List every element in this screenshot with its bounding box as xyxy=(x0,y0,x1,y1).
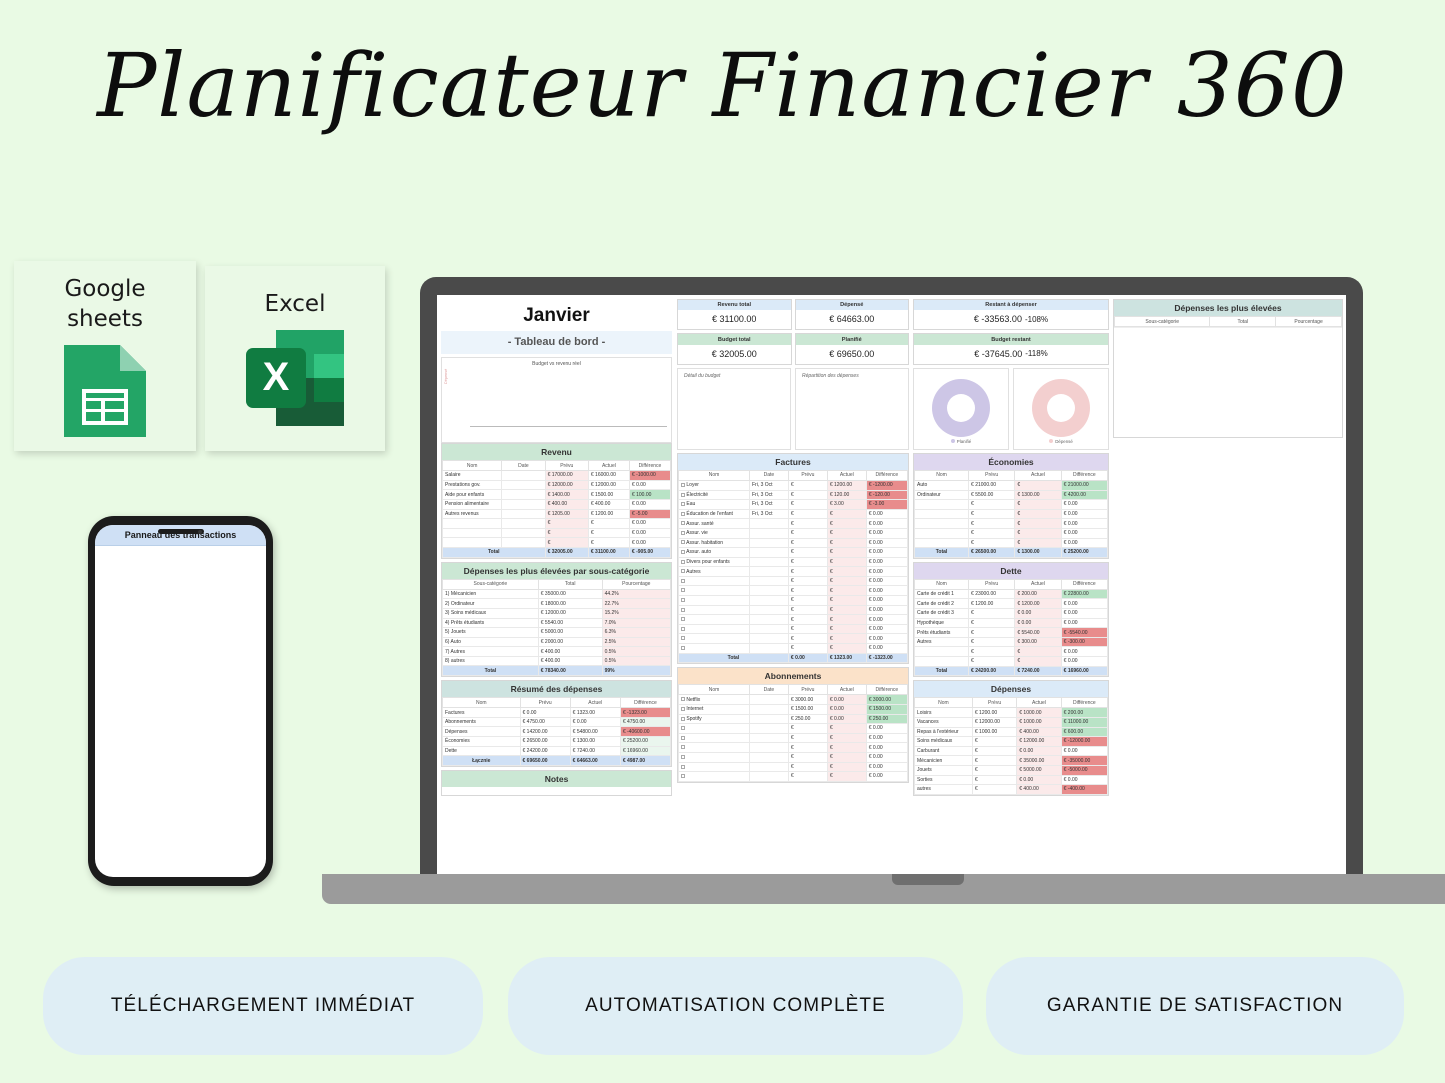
table-cell[interactable]: Factures xyxy=(443,708,521,718)
row-checkbox[interactable] xyxy=(681,627,685,631)
table-row[interactable]: LoyerFri, 3 Oct€€ 1200.00€ -1200.00 xyxy=(679,480,908,490)
table-cell[interactable]: € xyxy=(827,752,866,762)
table-cell[interactable] xyxy=(749,605,788,615)
table-cell[interactable]: € xyxy=(1015,480,1061,490)
table-cell[interactable]: € xyxy=(588,538,629,548)
table-cell[interactable] xyxy=(502,480,545,490)
table-cell[interactable]: € 1200.00 xyxy=(972,708,1016,718)
table-cell[interactable]: € 1200.00 xyxy=(588,509,629,519)
table-cell[interactable]: € xyxy=(588,519,629,529)
table-row[interactable]: 5) Jouets€ 5000.006.3% xyxy=(443,628,671,638)
table-row[interactable]: €€€ 0.00 xyxy=(443,528,671,538)
table-cell[interactable]: € 14200.00 xyxy=(520,727,570,737)
table-cell[interactable]: € xyxy=(827,548,866,558)
table-revenu[interactable]: NomDatePrévuActuelDifférenceSalaire€ 170… xyxy=(442,460,671,558)
table-cell[interactable]: € xyxy=(827,762,866,772)
row-checkbox[interactable] xyxy=(681,745,685,749)
table-row[interactable]: €€€ 0.00 xyxy=(679,724,908,734)
table-cell[interactable]: Assur. vie xyxy=(679,528,750,538)
table-row[interactable]: Internet€ 1500.00€ 0.00€ 1500.00 xyxy=(679,705,908,715)
table-abonnements[interactable]: NomDatePrévuActuelDifférence Netflix€ 30… xyxy=(678,684,908,782)
table-cell[interactable]: € -400.00 xyxy=(1061,785,1107,795)
table-cell[interactable]: € 0.00 xyxy=(1061,519,1107,529)
table-row[interactable]: Mécanicien€€ 35000.00€ -35000.00 xyxy=(915,756,1108,766)
table-cell[interactable]: Électricité xyxy=(679,490,750,500)
table-cell[interactable]: € 23000.00 xyxy=(969,589,1015,599)
table-cell[interactable]: € xyxy=(969,509,1015,519)
table-row[interactable]: Sorties€€ 0.00€ 0.00 xyxy=(915,775,1108,785)
table-cell[interactable]: € 0.00 xyxy=(1061,599,1107,609)
table-cell[interactable]: Vacances xyxy=(915,718,973,728)
table-cell[interactable] xyxy=(679,733,750,743)
table-cell[interactable]: € 0.00 xyxy=(866,615,907,625)
table-cell[interactable]: € 0.00 xyxy=(629,499,670,509)
table-row[interactable]: Assur. auto€€€ 0.00 xyxy=(679,548,908,558)
table-cell[interactable] xyxy=(749,752,788,762)
table-cell[interactable]: € 1205.00 xyxy=(545,509,588,519)
table-cell[interactable] xyxy=(679,752,750,762)
row-checkbox[interactable] xyxy=(681,765,685,769)
table-cell[interactable] xyxy=(679,605,750,615)
table-row[interactable]: Carte de crédit 3€€ 0.00€ 0.00 xyxy=(915,609,1108,619)
table-cell[interactable]: € 0.00 xyxy=(570,717,620,727)
table-cell[interactable]: € xyxy=(972,746,1016,756)
table-cell[interactable]: € xyxy=(545,519,588,529)
table-cell[interactable]: € xyxy=(788,724,827,734)
table-row[interactable]: €€€ 0.00 xyxy=(679,586,908,596)
table-cell[interactable]: € xyxy=(827,576,866,586)
table-cell[interactable]: € 0.00 xyxy=(629,528,670,538)
table-dette[interactable]: NomPrévuActuelDifférenceCarte de crédit … xyxy=(914,579,1108,677)
table-row[interactable]: Netflix€ 3000.00€ 0.00€ 3000.00 xyxy=(679,695,908,705)
table-cell[interactable]: Loyer xyxy=(679,480,750,490)
table-cell[interactable]: € 0.00 xyxy=(866,576,907,586)
table-cell[interactable]: 0.5% xyxy=(602,656,670,666)
table-row[interactable]: €€€ 0.00 xyxy=(915,657,1108,667)
table-cell[interactable]: Prestations gov. xyxy=(443,480,502,490)
table-cell[interactable] xyxy=(749,567,788,577)
table-cell[interactable] xyxy=(502,528,545,538)
table-cell[interactable]: Prêts étudiants xyxy=(915,628,969,638)
table-row[interactable]: Auto€ 21000.00€€ 21000.00 xyxy=(915,480,1108,490)
table-row[interactable]: €€€ 0.00 xyxy=(915,509,1108,519)
table-cell[interactable]: 4) Prêts étudiants xyxy=(443,618,539,628)
table-cell[interactable] xyxy=(915,657,969,667)
table-cell[interactable]: € xyxy=(972,785,1016,795)
table-cell[interactable]: € 0.00 xyxy=(866,752,907,762)
table-cell[interactable]: € xyxy=(827,743,866,753)
table-cell[interactable]: Assur. auto xyxy=(679,548,750,558)
table-cell[interactable]: € xyxy=(827,615,866,625)
table-cell[interactable]: 6.3% xyxy=(602,628,670,638)
table-cell[interactable]: € xyxy=(788,567,827,577)
table-cell[interactable]: Loisirs xyxy=(915,708,973,718)
table-row[interactable]: Assur. santé€€€ 0.00 xyxy=(679,519,908,529)
table-cell[interactable] xyxy=(915,538,969,548)
table-cell[interactable] xyxy=(749,714,788,724)
table-top-expenses-sub[interactable]: Sous-catégorieTotalPourcentage1) Mécanic… xyxy=(442,579,671,677)
table-cell[interactable]: € 12000.00 xyxy=(545,480,588,490)
table-cell[interactable]: € 5000.00 xyxy=(538,628,602,638)
table-row[interactable]: Jouets€€ 5000.00€ -5000.00 xyxy=(915,765,1108,775)
table-cell[interactable]: € 22800.00 xyxy=(1061,589,1107,599)
table-cell[interactable]: € 400.00 xyxy=(1017,785,1061,795)
table-cell[interactable] xyxy=(679,743,750,753)
table-cell[interactable]: € 54800.00 xyxy=(570,727,620,737)
row-checkbox[interactable] xyxy=(681,540,685,544)
table-cell[interactable]: € 0.00 xyxy=(1061,746,1107,756)
table-cell[interactable] xyxy=(443,528,502,538)
table-cell[interactable] xyxy=(749,528,788,538)
table-row[interactable]: EauFri, 3 Oct€€ 3.00€ -3.00 xyxy=(679,500,908,510)
table-cell[interactable]: 0.5% xyxy=(602,647,670,657)
table-resume[interactable]: NomPrévuActuelDifférenceFactures€ 0.00€ … xyxy=(442,697,671,766)
table-cell[interactable]: € 0.00 xyxy=(1061,538,1107,548)
table-cell[interactable]: € 0.00 xyxy=(1061,528,1107,538)
table-cell[interactable]: € xyxy=(827,724,866,734)
table-row[interactable]: €€€ 0.00 xyxy=(679,752,908,762)
table-cell[interactable]: € -1200.00 xyxy=(866,480,907,490)
table-cell[interactable]: € xyxy=(972,737,1016,747)
table-cell[interactable]: € 16000.00 xyxy=(588,471,629,481)
table-cell[interactable]: € 3.00 xyxy=(827,500,866,510)
table-cell[interactable]: € -1000.00 xyxy=(629,471,670,481)
table-cell[interactable]: € -35000.00 xyxy=(1061,756,1107,766)
table-cell[interactable]: € xyxy=(588,528,629,538)
table-row[interactable]: 4) Prêts étudiants€ 5540.007.0% xyxy=(443,618,671,628)
table-cell[interactable]: € xyxy=(788,586,827,596)
table-row[interactable]: Carte de crédit 2€ 1200.00€ 1200.00€ 0.0… xyxy=(915,599,1108,609)
table-cell[interactable]: Carburant xyxy=(915,746,973,756)
table-cell[interactable]: € xyxy=(1015,528,1061,538)
table-cell[interactable]: € xyxy=(969,657,1015,667)
table-cell[interactable]: Abonnements xyxy=(443,717,521,727)
table-row[interactable]: €€€ 0.00 xyxy=(443,519,671,529)
table-cell[interactable]: Assur. habitation xyxy=(679,538,750,548)
table-cell[interactable]: € xyxy=(827,519,866,529)
table-cell[interactable]: € 4750.00 xyxy=(520,717,570,727)
table-cell[interactable]: Eau xyxy=(679,500,750,510)
table-row[interactable]: €€€ 0.00 xyxy=(679,733,908,743)
table-row[interactable]: €€€ 0.00 xyxy=(679,772,908,782)
table-cell[interactable] xyxy=(679,576,750,586)
table-cell[interactable] xyxy=(749,724,788,734)
table-row[interactable]: Carte de crédit 1€ 23000.00€ 200.00€ 228… xyxy=(915,589,1108,599)
table-row[interactable]: €€€ 0.00 xyxy=(679,743,908,753)
table-cell[interactable]: € 0.00 xyxy=(866,634,907,644)
table-row[interactable]: Aide pour enfants€ 1400.00€ 1500.00€ 100… xyxy=(443,490,671,500)
table-cell[interactable]: € 12000.00 xyxy=(538,608,602,618)
table-cell[interactable]: € xyxy=(827,596,866,606)
table-cell[interactable]: € xyxy=(788,624,827,634)
table-cell[interactable]: € xyxy=(1015,509,1061,519)
table-row[interactable]: €€€ 0.00 xyxy=(679,634,908,644)
table-row[interactable]: Économies€ 26500.00€ 1300.00€ 25200.00 xyxy=(443,737,671,747)
table-row[interactable]: €€€ 0.00 xyxy=(443,538,671,548)
table-cell[interactable]: € xyxy=(827,538,866,548)
table-cell[interactable]: € xyxy=(969,618,1015,628)
table-row[interactable]: Factures€ 0.00€ 1323.00€ -1323.00 xyxy=(443,708,671,718)
table-cell[interactable]: 15.2% xyxy=(602,608,670,618)
table-cell[interactable] xyxy=(749,615,788,625)
row-checkbox[interactable] xyxy=(681,697,685,701)
row-checkbox[interactable] xyxy=(681,502,685,506)
table-cell[interactable]: € 0.00 xyxy=(1017,775,1061,785)
table-cell[interactable]: € 1300.00 xyxy=(1015,490,1061,500)
table-row[interactable]: €€€ 0.00 xyxy=(679,576,908,586)
table-row[interactable]: Salaire€ 17000.00€ 16000.00€ -1000.00 xyxy=(443,471,671,481)
table-cell[interactable]: € 0.00 xyxy=(629,538,670,548)
table-cell[interactable]: € xyxy=(545,538,588,548)
table-cell[interactable]: Autres revenus xyxy=(443,509,502,519)
table-cell[interactable]: Autres xyxy=(915,637,969,647)
table-cell[interactable]: € 0.00 xyxy=(1015,609,1061,619)
panel-notes[interactable]: Notes xyxy=(441,770,672,796)
table-cell[interactable] xyxy=(443,538,502,548)
table-cell[interactable]: € xyxy=(788,519,827,529)
table-cell[interactable]: Fri, 3 Oct xyxy=(749,480,788,490)
table-cell[interactable]: € 1200.00 xyxy=(1015,599,1061,609)
row-checkbox[interactable] xyxy=(681,726,685,730)
table-cell[interactable] xyxy=(749,762,788,772)
table-cell[interactable] xyxy=(915,509,969,519)
table-cell[interactable] xyxy=(679,644,750,654)
table-cell[interactable]: 7.0% xyxy=(602,618,670,628)
table-cell[interactable] xyxy=(749,548,788,558)
table-cell[interactable]: € 25200.00 xyxy=(620,737,670,747)
table-cell[interactable] xyxy=(502,471,545,481)
table-cell[interactable]: € 250.00 xyxy=(866,714,907,724)
table-cell[interactable]: € -5000.00 xyxy=(1061,765,1107,775)
row-checkbox[interactable] xyxy=(681,717,685,721)
table-row[interactable]: Hypothèque€€ 0.00€ 0.00 xyxy=(915,618,1108,628)
table-row[interactable]: 8) autres€ 400.000.5% xyxy=(443,656,671,666)
row-checkbox[interactable] xyxy=(681,512,685,516)
table-cell[interactable]: € 0.00 xyxy=(1061,618,1107,628)
table-cell[interactable]: € xyxy=(827,733,866,743)
table-cell[interactable]: € xyxy=(788,615,827,625)
table-cell[interactable]: € 120.00 xyxy=(827,490,866,500)
table-cell[interactable]: € 0.00 xyxy=(866,557,907,567)
table-cell[interactable]: € xyxy=(788,538,827,548)
table-row[interactable]: Ordinateur€ 5500.00€ 1300.00€ 4200.00 xyxy=(915,490,1108,500)
table-cell[interactable]: € 0.00 xyxy=(866,528,907,538)
table-cell[interactable]: € 12000.00 xyxy=(972,718,1016,728)
table-cell[interactable]: € 4750.00 xyxy=(620,717,670,727)
table-cell[interactable]: € 0.00 xyxy=(1061,657,1107,667)
table-cell[interactable]: Spotify xyxy=(679,714,750,724)
table-cell[interactable]: € xyxy=(788,596,827,606)
table-row[interactable]: ÉlectricitéFri, 3 Oct€€ 120.00€ -120.00 xyxy=(679,490,908,500)
table-cell[interactable]: € xyxy=(969,609,1015,619)
table-row[interactable]: Carburant€€ 0.00€ 0.00 xyxy=(915,746,1108,756)
table-row[interactable]: €€€ 0.00 xyxy=(679,605,908,615)
table-cell[interactable]: Dépenses xyxy=(443,727,521,737)
table-cell[interactable]: autres xyxy=(915,785,973,795)
table-row[interactable]: €€€ 0.00 xyxy=(679,615,908,625)
row-checkbox[interactable] xyxy=(681,707,685,711)
table-cell[interactable] xyxy=(749,634,788,644)
table-cell[interactable] xyxy=(502,490,545,500)
table-row[interactable]: Autres€€€ 0.00 xyxy=(679,567,908,577)
table-row[interactable]: Autres revenus€ 1205.00€ 1200.00€ -5.00 xyxy=(443,509,671,519)
table-cell[interactable]: Dette xyxy=(443,746,521,756)
table-cell[interactable]: € 35000.00 xyxy=(538,589,602,599)
table-cell[interactable]: € xyxy=(972,765,1016,775)
table-cell[interactable]: € 0.00 xyxy=(866,624,907,634)
table-cell[interactable]: € 3000.00 xyxy=(866,695,907,705)
table-cell[interactable]: € xyxy=(1015,657,1061,667)
table-cell[interactable]: € -5.00 xyxy=(629,509,670,519)
table-cell[interactable] xyxy=(679,615,750,625)
row-checkbox[interactable] xyxy=(681,560,685,564)
table-cell[interactable]: € -12000.00 xyxy=(1061,737,1107,747)
table-row[interactable]: Repas à l'extérieur€ 1000.00€ 400.00€ 60… xyxy=(915,727,1108,737)
table-cell[interactable]: € xyxy=(969,519,1015,529)
table-cell[interactable]: € 0.00 xyxy=(866,509,907,519)
table-cell[interactable] xyxy=(679,634,750,644)
table-cell[interactable] xyxy=(915,519,969,529)
table-cell[interactable]: 22.7% xyxy=(602,599,670,609)
table-depenses[interactable]: NomPrévuActuelDifférenceLoisirs€ 1200.00… xyxy=(914,697,1108,795)
table-cell[interactable]: € 1000.00 xyxy=(1017,718,1061,728)
table-cell[interactable] xyxy=(749,695,788,705)
table-cell[interactable]: € 0.00 xyxy=(866,772,907,782)
table-cell[interactable]: € 1323.00 xyxy=(570,708,620,718)
table-cell[interactable]: Éducation de l'enfant xyxy=(679,509,750,519)
table-cell[interactable]: € 24200.00 xyxy=(520,746,570,756)
table-cell[interactable] xyxy=(749,596,788,606)
table-cell[interactable]: € 0.00 xyxy=(1061,500,1107,510)
table-cell[interactable]: € 0.00 xyxy=(866,586,907,596)
table-cell[interactable]: € xyxy=(827,772,866,782)
table-cell[interactable]: € 35000.00 xyxy=(1017,756,1061,766)
table-cell[interactable]: € 1000.00 xyxy=(972,727,1016,737)
table-cell[interactable]: € xyxy=(969,628,1015,638)
table-cell[interactable]: € 0.00 xyxy=(629,480,670,490)
table-row[interactable]: 3) Soins médicaux€ 12000.0015.2% xyxy=(443,608,671,618)
table-cell[interactable]: € 400.00 xyxy=(538,647,602,657)
table-cell[interactable]: 3) Soins médicaux xyxy=(443,608,539,618)
table-cell[interactable]: € 5000.00 xyxy=(1017,765,1061,775)
table-cell[interactable] xyxy=(679,624,750,634)
table-cell[interactable]: € -1323.00 xyxy=(620,708,670,718)
table-cell[interactable]: € 0.00 xyxy=(866,644,907,654)
table-cell[interactable] xyxy=(915,528,969,538)
row-checkbox[interactable] xyxy=(681,736,685,740)
table-cell[interactable]: € 0.00 xyxy=(827,705,866,715)
table-cell[interactable]: € xyxy=(827,528,866,538)
table-cell[interactable]: € 400.00 xyxy=(1017,727,1061,737)
table-cell[interactable]: € 200.00 xyxy=(1015,589,1061,599)
table-row[interactable]: Assur. vie€€€ 0.00 xyxy=(679,528,908,538)
table-row[interactable]: Dette€ 24200.00€ 7240.00€ 16960.00 xyxy=(443,746,671,756)
table-cell[interactable]: € xyxy=(969,538,1015,548)
table-cell[interactable]: € 16960.00 xyxy=(620,746,670,756)
table-row[interactable]: Dépenses€ 14200.00€ 54800.00€ -40600.00 xyxy=(443,727,671,737)
table-cell[interactable]: € xyxy=(827,567,866,577)
table-cell[interactable]: € 5540.00 xyxy=(1015,628,1061,638)
table-row[interactable]: Pension alimentaire€ 400.00€ 400.00€ 0.0… xyxy=(443,499,671,509)
table-cell[interactable]: € xyxy=(788,509,827,519)
table-cell[interactable]: Hypothèque xyxy=(915,618,969,628)
table-cell[interactable]: Fri, 3 Oct xyxy=(749,490,788,500)
table-cell[interactable]: € 0.00 xyxy=(629,519,670,529)
table-cell[interactable]: € 0.00 xyxy=(1061,775,1107,785)
table-cell[interactable] xyxy=(749,743,788,753)
table-cell[interactable]: € xyxy=(788,605,827,615)
table-cell[interactable]: € xyxy=(827,509,866,519)
table-cell[interactable]: Sorties xyxy=(915,775,973,785)
table-cell[interactable]: € xyxy=(1015,538,1061,548)
table-economies[interactable]: NomPrévuActuelDifférenceAuto€ 21000.00€€… xyxy=(914,470,1108,558)
table-cell[interactable]: 2) Ordinateur xyxy=(443,599,539,609)
table-cell[interactable]: € xyxy=(788,528,827,538)
row-checkbox[interactable] xyxy=(681,755,685,759)
table-row[interactable]: Éducation de l'enfantFri, 3 Oct€€€ 0.00 xyxy=(679,509,908,519)
table-cell[interactable] xyxy=(749,624,788,634)
table-cell[interactable]: € xyxy=(972,756,1016,766)
table-cell[interactable]: € 12000.00 xyxy=(588,480,629,490)
table-cell[interactable]: 44.2% xyxy=(602,589,670,599)
table-cell[interactable]: 7) Autres xyxy=(443,647,539,657)
table-cell[interactable]: € 1200.00 xyxy=(969,599,1015,609)
table-row[interactable]: €€€ 0.00 xyxy=(915,538,1108,548)
table-row[interactable]: €€€ 0.00 xyxy=(679,596,908,606)
table-cell[interactable]: € 0.00 xyxy=(866,762,907,772)
table-cell[interactable]: € 21000.00 xyxy=(1061,480,1107,490)
table-cell[interactable] xyxy=(502,519,545,529)
table-cell[interactable]: € 400.00 xyxy=(538,656,602,666)
table-cell[interactable]: € 5500.00 xyxy=(969,490,1015,500)
table-cell[interactable]: € 17000.00 xyxy=(545,471,588,481)
table-cell[interactable]: 1) Mécanicien xyxy=(443,589,539,599)
table-cell[interactable]: € xyxy=(788,644,827,654)
table-cell[interactable]: € xyxy=(827,586,866,596)
table-cell[interactable]: € 200.00 xyxy=(1061,708,1107,718)
table-row[interactable]: 1) Mécanicien€ 35000.0044.2% xyxy=(443,589,671,599)
row-checkbox[interactable] xyxy=(681,598,685,602)
table-cell[interactable]: € xyxy=(969,647,1015,657)
table-cell[interactable]: € xyxy=(788,733,827,743)
table-cell[interactable]: € xyxy=(788,500,827,510)
table-cell[interactable]: € xyxy=(827,634,866,644)
table-cell[interactable]: € 26500.00 xyxy=(520,737,570,747)
table-cell[interactable] xyxy=(749,586,788,596)
table-row[interactable]: Divers pour enfants€€€ 0.00 xyxy=(679,557,908,567)
table-cell[interactable]: Fri, 3 Oct xyxy=(749,500,788,510)
table-cell[interactable]: 8) autres xyxy=(443,656,539,666)
table-row[interactable]: Prêts étudiants€€ 5540.00€ -5540.00 xyxy=(915,628,1108,638)
row-checkbox[interactable] xyxy=(681,521,685,525)
table-cell[interactable]: € 18000.00 xyxy=(538,599,602,609)
table-row[interactable]: Abonnements€ 4750.00€ 0.00€ 4750.00 xyxy=(443,717,671,727)
table-cell[interactable]: € 0.00 xyxy=(1061,609,1107,619)
table-row[interactable]: €€€ 0.00 xyxy=(915,500,1108,510)
table-cell[interactable]: € xyxy=(788,634,827,644)
table-cell[interactable]: € 12000.00 xyxy=(1017,737,1061,747)
table-cell[interactable]: € xyxy=(788,576,827,586)
table-cell[interactable]: € -5540.00 xyxy=(1061,628,1107,638)
table-cell[interactable]: € 1400.00 xyxy=(545,490,588,500)
table-cell[interactable]: € 600.00 xyxy=(1061,727,1107,737)
table-cell[interactable]: € 0.00 xyxy=(1015,618,1061,628)
table-cell[interactable]: € 400.00 xyxy=(545,499,588,509)
table-row[interactable]: €€€ 0.00 xyxy=(679,624,908,634)
table-cell[interactable] xyxy=(749,705,788,715)
table-row[interactable]: €€€ 0.00 xyxy=(915,519,1108,529)
table-cell[interactable]: Ordinateur xyxy=(915,490,969,500)
